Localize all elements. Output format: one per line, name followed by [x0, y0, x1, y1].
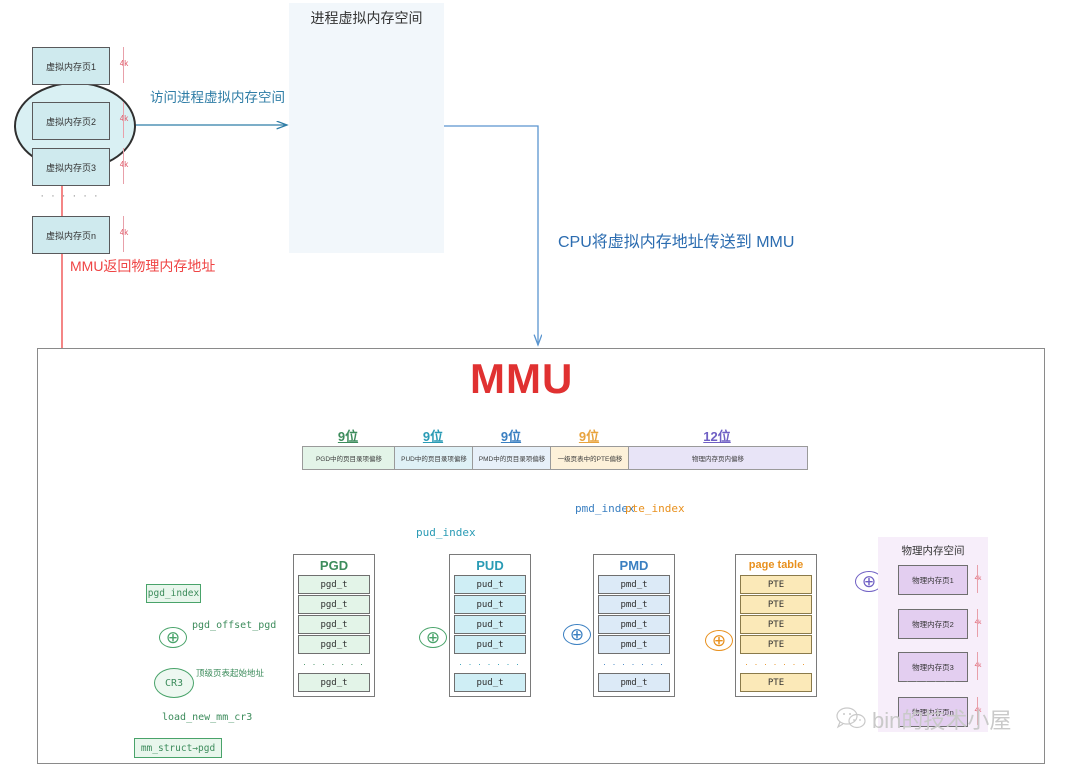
virtual-page-size: 4k — [115, 59, 133, 68]
page-table-entry: PTE — [740, 615, 812, 634]
page-table-entry: pgd_t — [298, 673, 370, 692]
physical-memory-page: 物理内存页1 — [898, 565, 968, 595]
physical-page-size: 4k — [971, 662, 985, 669]
virtual-memory-page: 虚拟内存页1 — [32, 47, 110, 85]
physical-page-size-bar — [977, 652, 978, 680]
page-table-header: PUD — [450, 555, 530, 575]
virtual-page-size-bar — [123, 102, 124, 138]
label-access-vm: 访问进程虚拟内存空间 — [150, 86, 285, 106]
plus-icon-pte: ⊕ — [705, 630, 733, 651]
bitfield-bit-count: 9位 — [472, 426, 550, 445]
virtual-page-size-bar — [123, 148, 124, 184]
plus-icon-pud: ⊕ — [419, 627, 447, 648]
page-table-entry: pgd_t — [298, 615, 370, 634]
mmu-title: MMU — [470, 355, 573, 403]
label-cpu-to-mmu: CPU将虚拟内存地址传送到 MMU — [558, 228, 794, 252]
page-table-header: PMD — [594, 555, 674, 575]
pgd-index-box: pgd_index — [146, 584, 201, 603]
bitfield-segment: 一级页表中的PTE偏移 — [550, 446, 630, 470]
bitfield-segment: PGD中的页目录项偏移 — [302, 446, 396, 470]
bitfield-bit-count: 9位 — [550, 426, 628, 445]
mm-struct-box: mm_struct→pgd — [134, 738, 222, 758]
virtual-page-size: 4k — [115, 160, 133, 169]
page-table-entry: pgd_t — [298, 635, 370, 654]
page-table-dots: · · · · · · · — [740, 655, 812, 672]
label-pte-index: pte_index — [625, 502, 685, 515]
physical-page-size-bar — [977, 609, 978, 637]
page-table-entry: pgd_t — [298, 595, 370, 614]
page-table-header: PGD — [294, 555, 374, 575]
bitfield-segment: PUD中的页目录项偏移 — [394, 446, 474, 470]
page-table-entry: pmd_t — [598, 595, 670, 614]
page-table-column: PMDpmd_tpmd_tpmd_tpmd_t· · · · · · ·pmd_… — [593, 554, 675, 697]
virtual-page-size-bar — [123, 216, 124, 252]
label-load-new-mm-cr3: load_new_mm_cr3 — [162, 712, 252, 723]
bitfield-segment: 物理内存页内偏移 — [628, 446, 808, 470]
page-table-dots: · · · · · · · — [598, 655, 670, 672]
label-top-table-addr: 顶级页表起始地址 — [196, 667, 264, 679]
wechat-icon — [836, 707, 866, 731]
page-table-entry: pmd_t — [598, 615, 670, 634]
page-table-entry: pud_t — [454, 635, 526, 654]
page-table-header: page table — [736, 555, 816, 575]
page-table-entry: pmd_t — [598, 635, 670, 654]
virtual-memory-panel — [289, 3, 444, 253]
page-table-entry: pud_t — [454, 673, 526, 692]
physical-memory-dots: · · · · · · — [898, 676, 966, 686]
page-table-entry: pmd_t — [598, 575, 670, 594]
physical-page-size: 4k — [971, 575, 985, 582]
bitfield-bit-count: 9位 — [394, 426, 472, 445]
plus-icon-pmd: ⊕ — [563, 624, 591, 645]
virtual-memory-page: 虚拟内存页n — [32, 216, 110, 254]
page-table-entry: pud_t — [454, 575, 526, 594]
virtual-memory-title: 进程虚拟内存空间 — [289, 8, 444, 28]
bitfield-bit-count: 9位 — [302, 426, 394, 445]
watermark: bin的技术小屋 — [836, 703, 1011, 735]
page-table-entry: PTE — [740, 635, 812, 654]
page-table-dots: · · · · · · · — [298, 655, 370, 672]
label-pud-index: pud_index — [416, 526, 476, 539]
page-table-entry: PTE — [740, 673, 812, 692]
virtual-memory-page: 虚拟内存页2 — [32, 102, 110, 140]
page-table-entry: pud_t — [454, 595, 526, 614]
cr3-register: CR3 — [154, 668, 194, 698]
page-table-entry: PTE — [740, 595, 812, 614]
virtual-page-size: 4k — [115, 228, 133, 237]
bitfield-segment: PMD中的页目录项偏移 — [472, 446, 552, 470]
virtual-memory-page: 虚拟内存页3 — [32, 148, 110, 186]
page-table-entry: pmd_t — [598, 673, 670, 692]
plus-icon-pgd: ⊕ — [159, 627, 187, 648]
physical-memory-page: 物理内存页2 — [898, 609, 968, 639]
page-table-entry: pud_t — [454, 615, 526, 634]
virtual-memory-dots: · · · · · · — [32, 190, 108, 202]
virtual-page-size: 4k — [115, 114, 133, 123]
label-mmu-return: MMU返回物理内存地址 — [70, 256, 215, 276]
page-table-column: PGDpgd_tpgd_tpgd_tpgd_t· · · · · · ·pgd_… — [293, 554, 375, 697]
virtual-page-size-bar — [123, 47, 124, 83]
physical-page-size: 4k — [971, 619, 985, 626]
watermark-text: bin的技术小屋 — [872, 703, 1011, 735]
page-table-dots: · · · · · · · — [454, 655, 526, 672]
label-pgd-offset-pgd: pgd_offset_pgd — [192, 620, 276, 631]
page-table-column: PUDpud_tpud_tpud_tpud_t· · · · · · ·pud_… — [449, 554, 531, 697]
page-table-column: page tablePTEPTEPTEPTE· · · · · · ·PTE — [735, 554, 817, 697]
bitfield-bit-count: 12位 — [628, 426, 806, 445]
physical-page-size-bar — [977, 565, 978, 593]
arrow-vm-to-mmu — [444, 126, 538, 345]
page-table-entry: PTE — [740, 575, 812, 594]
physical-memory-title: 物理内存空间 — [878, 543, 988, 558]
page-table-entry: pgd_t — [298, 575, 370, 594]
